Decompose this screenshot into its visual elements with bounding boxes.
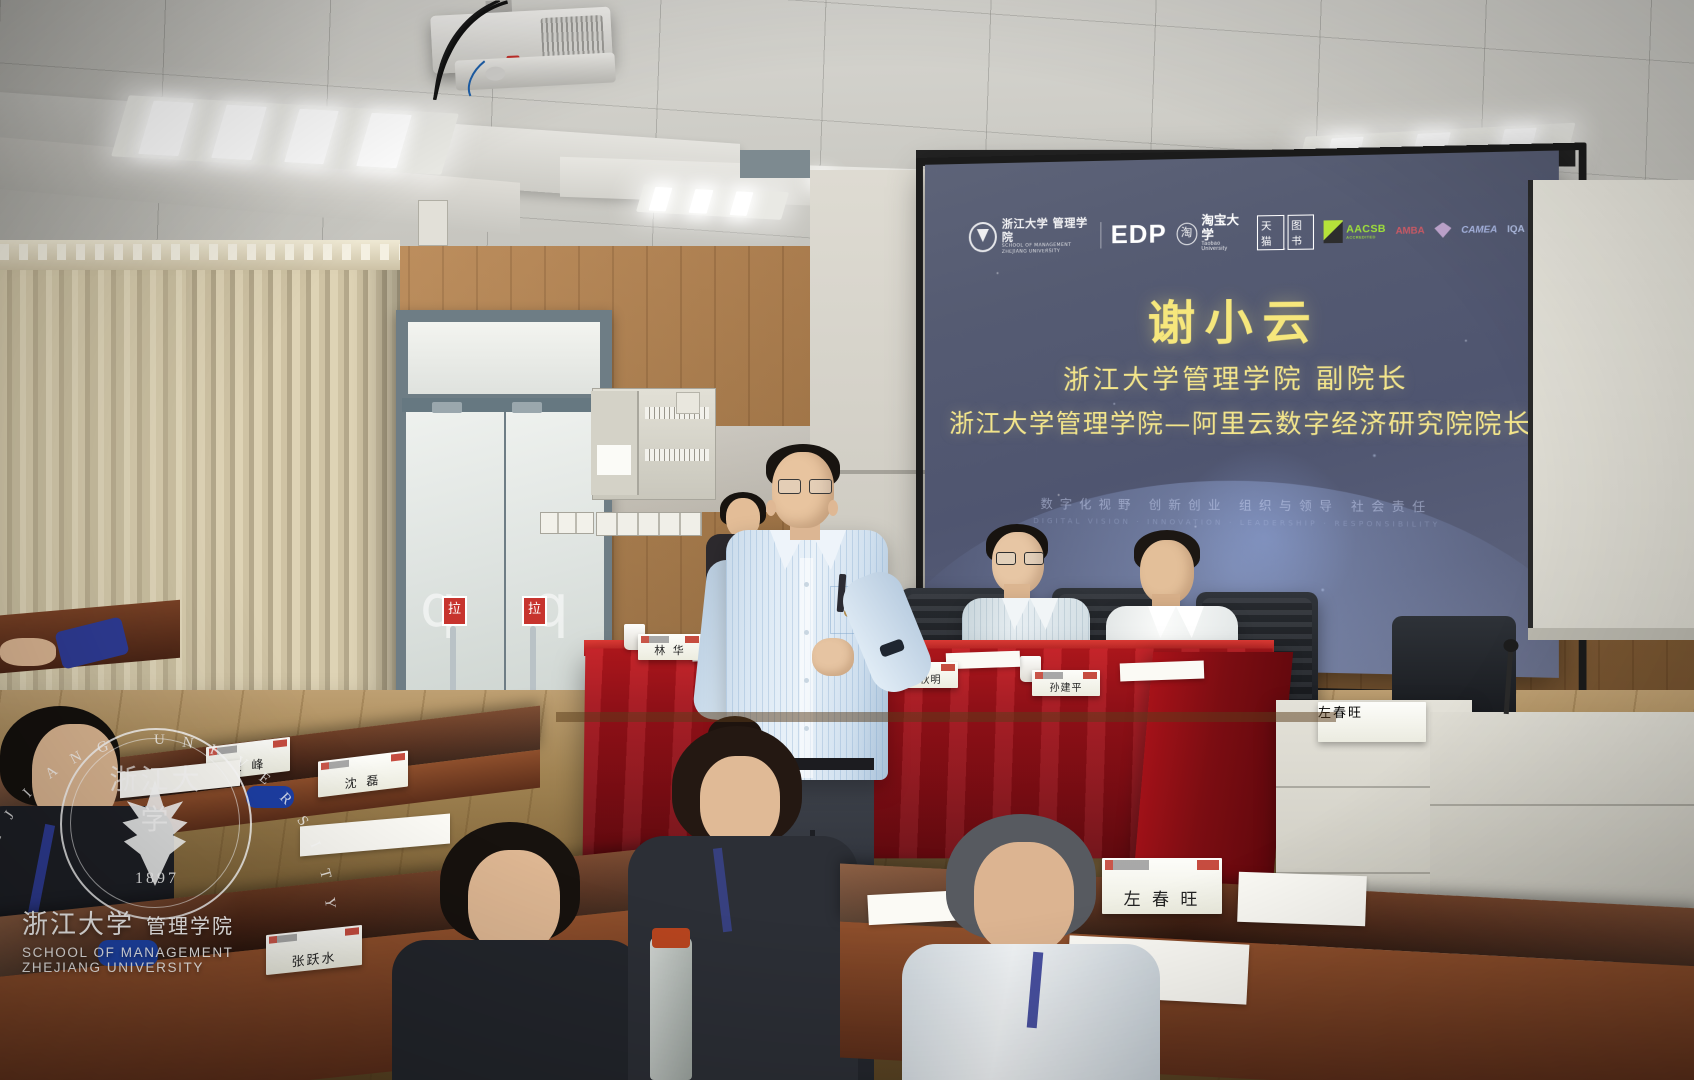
speaker-glasses-icon [778,479,830,493]
name-card-logo-icon [391,753,405,762]
shirt-button-icon [804,630,809,635]
name-card-head-table-right: 孙建平 [1032,670,1100,696]
taobao-wordmark: 淘宝大学 Taobao University [1201,214,1247,253]
panel-label-paper [597,445,631,475]
zju-som-en-2: ZHEJIANG UNIVERSITY [1002,248,1092,255]
shirt-button-icon [804,582,809,587]
attendee-hand [0,638,56,666]
name-card-logo-icon [345,927,359,935]
door-transom-window [408,322,600,394]
aacsb-sub: ACCREDITED [1346,235,1386,240]
attendee-2-head [700,756,780,848]
taobao-icon: 淘 [1176,223,1197,246]
logo-cemea: CAMEA [1461,224,1497,235]
logo-iqa: IQA [1507,223,1525,234]
shirt-button-icon [804,726,809,731]
slide-title-line-2: 浙江大学管理学院—阿里云数字经济研究院院长 [925,403,1559,441]
zju-som-cn: 浙江大学 管理学院 [1002,216,1088,243]
attendee-4-head [974,842,1074,954]
logo-aacsb: AACSB ACCREDITED [1324,219,1386,243]
logo-taobao-university: 淘 淘宝大学 Taobao University [1176,214,1247,253]
aacsb-mark-icon [1324,220,1343,243]
tmall-label-1: 天猫 [1257,215,1284,250]
circuit-breaker-row [645,449,709,461]
computer-mouse-icon[interactable] [246,786,294,808]
document-sheet [1120,661,1205,682]
name-card-logo-icon [1035,672,1063,679]
equis-diamond-icon [1434,222,1451,238]
panelist-1-glasses-icon [996,552,1042,564]
window-curtain-right [186,246,392,701]
door-pull-sign: 拉 [442,596,467,626]
panelist-2-collar [1176,606,1204,638]
logo-edp: EDP [1111,219,1167,249]
slide-speaker-name: 谢小云 [925,282,1559,355]
panelist-2-collar [1148,606,1176,638]
name-card-audience-front-right: 左 春 旺 [1102,858,1222,914]
door-pull-sign: 拉 [522,596,547,626]
speaker-ear [828,500,838,516]
shirt-button-icon [804,678,809,683]
tmall-label-2: 图书 [1287,214,1314,250]
taobao-en: Taobao University [1201,241,1247,253]
electrical-panel-door[interactable] [591,391,639,495]
entry-door-left[interactable]: q 拉 [406,412,504,704]
ceiling-projector [390,0,625,102]
name-card-text: 左 春 旺 [1102,885,1222,910]
projection-screen-housing [740,150,810,178]
name-card-logo-icon [1105,860,1149,870]
wall-sign [676,392,700,414]
name-card-logo-icon [1197,860,1219,870]
name-card-logo-icon [273,739,287,748]
aacsb-label: AACSB [1346,223,1386,235]
light-switch-bank[interactable] [596,512,702,536]
logo-divider [1101,222,1102,248]
wall-speaker [418,200,448,246]
attendee-3-body [392,940,642,1080]
curtain-hooks [0,244,400,260]
aacsb-wordmark: AACSB ACCREDITED [1346,223,1386,239]
slide-logo-bar: 浙江大学 管理学院 SCHOOL OF MANAGEMENT ZHEJIANG … [969,208,1525,258]
stage-step-edge [556,712,1336,722]
document-sheet [1237,872,1367,926]
photo-canvas: q 拉 q 拉 浙江大学 管理学院 SCH [0,0,1694,1080]
podium-name-plate: 左春旺 [1318,702,1426,742]
zju-seal-icon [969,222,997,253]
entry-door-frame: q 拉 q 拉 [396,310,612,710]
door-hinge-icon [432,402,462,413]
name-card-text: 孙建平 [1032,679,1100,694]
whiteboard [1528,180,1694,630]
taobao-cn: 淘宝大学 [1201,213,1239,241]
logo-tmall-books: 天猫 图书 [1257,214,1315,250]
door-hinge-icon [512,402,542,413]
slide-title-line-1: 浙江大学管理学院 副院长 [925,357,1559,397]
name-card-logo-icon [941,664,955,671]
logo-zju-som: 浙江大学 管理学院 SCHOOL OF MANAGEMENT ZHEJIANG … [969,217,1092,255]
name-card-logo-icon [321,760,349,770]
logo-amba: AMBA [1396,225,1425,236]
name-card-logo-icon [209,745,237,755]
zju-som-wordmark: 浙江大学 管理学院 SCHOOL OF MANAGEMENT ZHEJIANG … [1002,217,1092,255]
attendee-3-head [468,850,560,954]
projector-cables [390,0,515,102]
water-bottle [650,936,692,1080]
name-card-logo-icon [269,934,297,944]
computer-mouse-icon[interactable] [98,940,158,966]
name-card-text: 林 华 [638,642,702,658]
speaker-ear [766,500,776,516]
name-card-head-table-left: 林 华 [638,634,702,660]
whiteboard-tray [1528,628,1694,640]
bottle-cap-icon [652,928,690,948]
light-switch-bank-secondary[interactable] [540,512,594,534]
speaker-shirt-placket [800,558,813,778]
speaker-hand [812,638,854,676]
name-card-logo-icon [1083,672,1097,679]
